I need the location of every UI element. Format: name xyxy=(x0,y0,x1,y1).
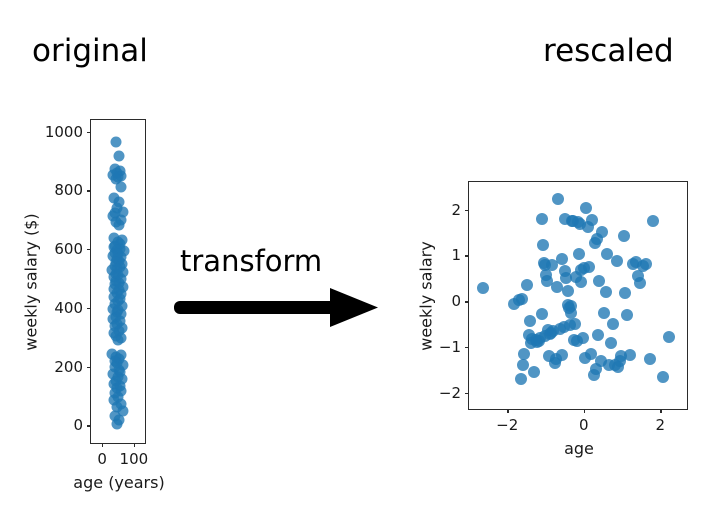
scatter-point xyxy=(516,293,528,305)
scatter-point xyxy=(537,239,549,251)
scatter-point xyxy=(536,308,548,320)
scatter-point xyxy=(113,335,124,346)
scatter-point xyxy=(528,366,540,378)
scatter-point xyxy=(586,214,598,226)
scatter-point xyxy=(575,276,587,288)
scatter-point xyxy=(562,285,574,297)
scatter-point xyxy=(611,255,623,267)
y-tick-mark xyxy=(87,308,91,309)
y-tick-mark xyxy=(465,210,469,211)
x-tick-label: 0 xyxy=(97,450,107,468)
y-tick-mark xyxy=(87,425,91,426)
scatter-point xyxy=(515,373,527,385)
scatter-point xyxy=(524,315,536,327)
y-tick-mark xyxy=(87,367,91,368)
y-tick-label: 400 xyxy=(54,299,83,317)
scatter-point xyxy=(605,337,617,349)
x-tick-label: −2 xyxy=(496,416,518,434)
scatter-point xyxy=(657,371,669,383)
scatter-point xyxy=(592,329,604,341)
scatter-point xyxy=(624,349,636,361)
scatter-point xyxy=(577,332,589,344)
scatter-point xyxy=(640,258,652,270)
chart-rescaled: −2−1012−202ageweekly salary xyxy=(468,181,688,410)
scatter-plot-area-original xyxy=(91,120,145,443)
chart-original: 020040060080010000100age (years)weekly s… xyxy=(90,119,146,444)
y-tick-mark xyxy=(87,132,91,133)
matplotlib-figure: original rescaled transform 020040060080… xyxy=(0,0,709,532)
scatter-point xyxy=(619,287,631,299)
scatter-point xyxy=(113,151,124,162)
scatter-point xyxy=(115,181,126,192)
x-tick-mark xyxy=(584,409,585,413)
y-tick-label: 1000 xyxy=(45,123,83,141)
y-tick-mark xyxy=(87,249,91,250)
y-tick-label: 0 xyxy=(73,416,83,434)
scatter-plot-area-rescaled xyxy=(469,182,687,409)
scatter-point xyxy=(583,261,595,273)
y-tick-label: 1 xyxy=(451,246,461,264)
y-tick-label: −2 xyxy=(439,384,461,402)
scatter-point xyxy=(596,226,608,238)
scatter-point xyxy=(621,309,633,321)
scatter-point xyxy=(556,349,568,361)
y-tick-label: 200 xyxy=(54,358,83,376)
y-axis-label: weekly salary xyxy=(417,241,436,350)
scatter-point xyxy=(551,281,563,293)
scatter-point xyxy=(518,348,530,360)
scatter-point xyxy=(569,318,581,330)
scatter-point xyxy=(634,277,646,289)
y-tick-label: 600 xyxy=(54,240,83,258)
y-tick-mark xyxy=(465,301,469,302)
scatter-point xyxy=(598,307,610,319)
scatter-point xyxy=(113,220,124,231)
scatter-point xyxy=(607,318,619,330)
y-tick-mark xyxy=(87,190,91,191)
x-tick-label: 100 xyxy=(120,450,149,468)
x-axis-label: age xyxy=(564,439,594,458)
right-arrow-icon xyxy=(172,285,378,331)
scatter-point xyxy=(593,275,605,287)
scatter-point xyxy=(580,202,592,214)
x-tick-mark xyxy=(660,409,661,413)
y-tick-mark xyxy=(465,393,469,394)
scatter-point xyxy=(477,282,489,294)
y-tick-mark xyxy=(465,347,469,348)
x-tick-label: 2 xyxy=(655,416,665,434)
x-tick-mark xyxy=(507,409,508,413)
y-tick-label: −1 xyxy=(439,338,461,356)
y-tick-label: 0 xyxy=(451,292,461,310)
y-axis-label: weekly salary ($) xyxy=(22,213,41,350)
scatter-point xyxy=(644,353,656,365)
scatter-point xyxy=(647,215,659,227)
page-title-rescaled: rescaled xyxy=(543,36,674,67)
scatter-point xyxy=(618,230,630,242)
x-tick-mark xyxy=(134,443,135,447)
scatter-point xyxy=(556,253,568,265)
y-tick-label: 2 xyxy=(451,201,461,219)
scatter-point xyxy=(552,193,564,205)
page-title-original: original xyxy=(32,36,148,67)
scatter-point xyxy=(521,279,533,291)
scatter-point xyxy=(536,213,548,225)
x-tick-mark xyxy=(102,443,103,447)
scatter-point xyxy=(573,248,585,260)
scatter-point xyxy=(600,286,612,298)
x-tick-label: 0 xyxy=(579,416,589,434)
scatter-point xyxy=(112,418,123,429)
scatter-point xyxy=(663,331,675,343)
y-tick-mark xyxy=(465,255,469,256)
x-axis-label: age (years) xyxy=(73,473,164,492)
y-tick-label: 800 xyxy=(54,181,83,199)
scatter-point xyxy=(111,136,122,147)
transform-label: transform xyxy=(180,247,322,276)
